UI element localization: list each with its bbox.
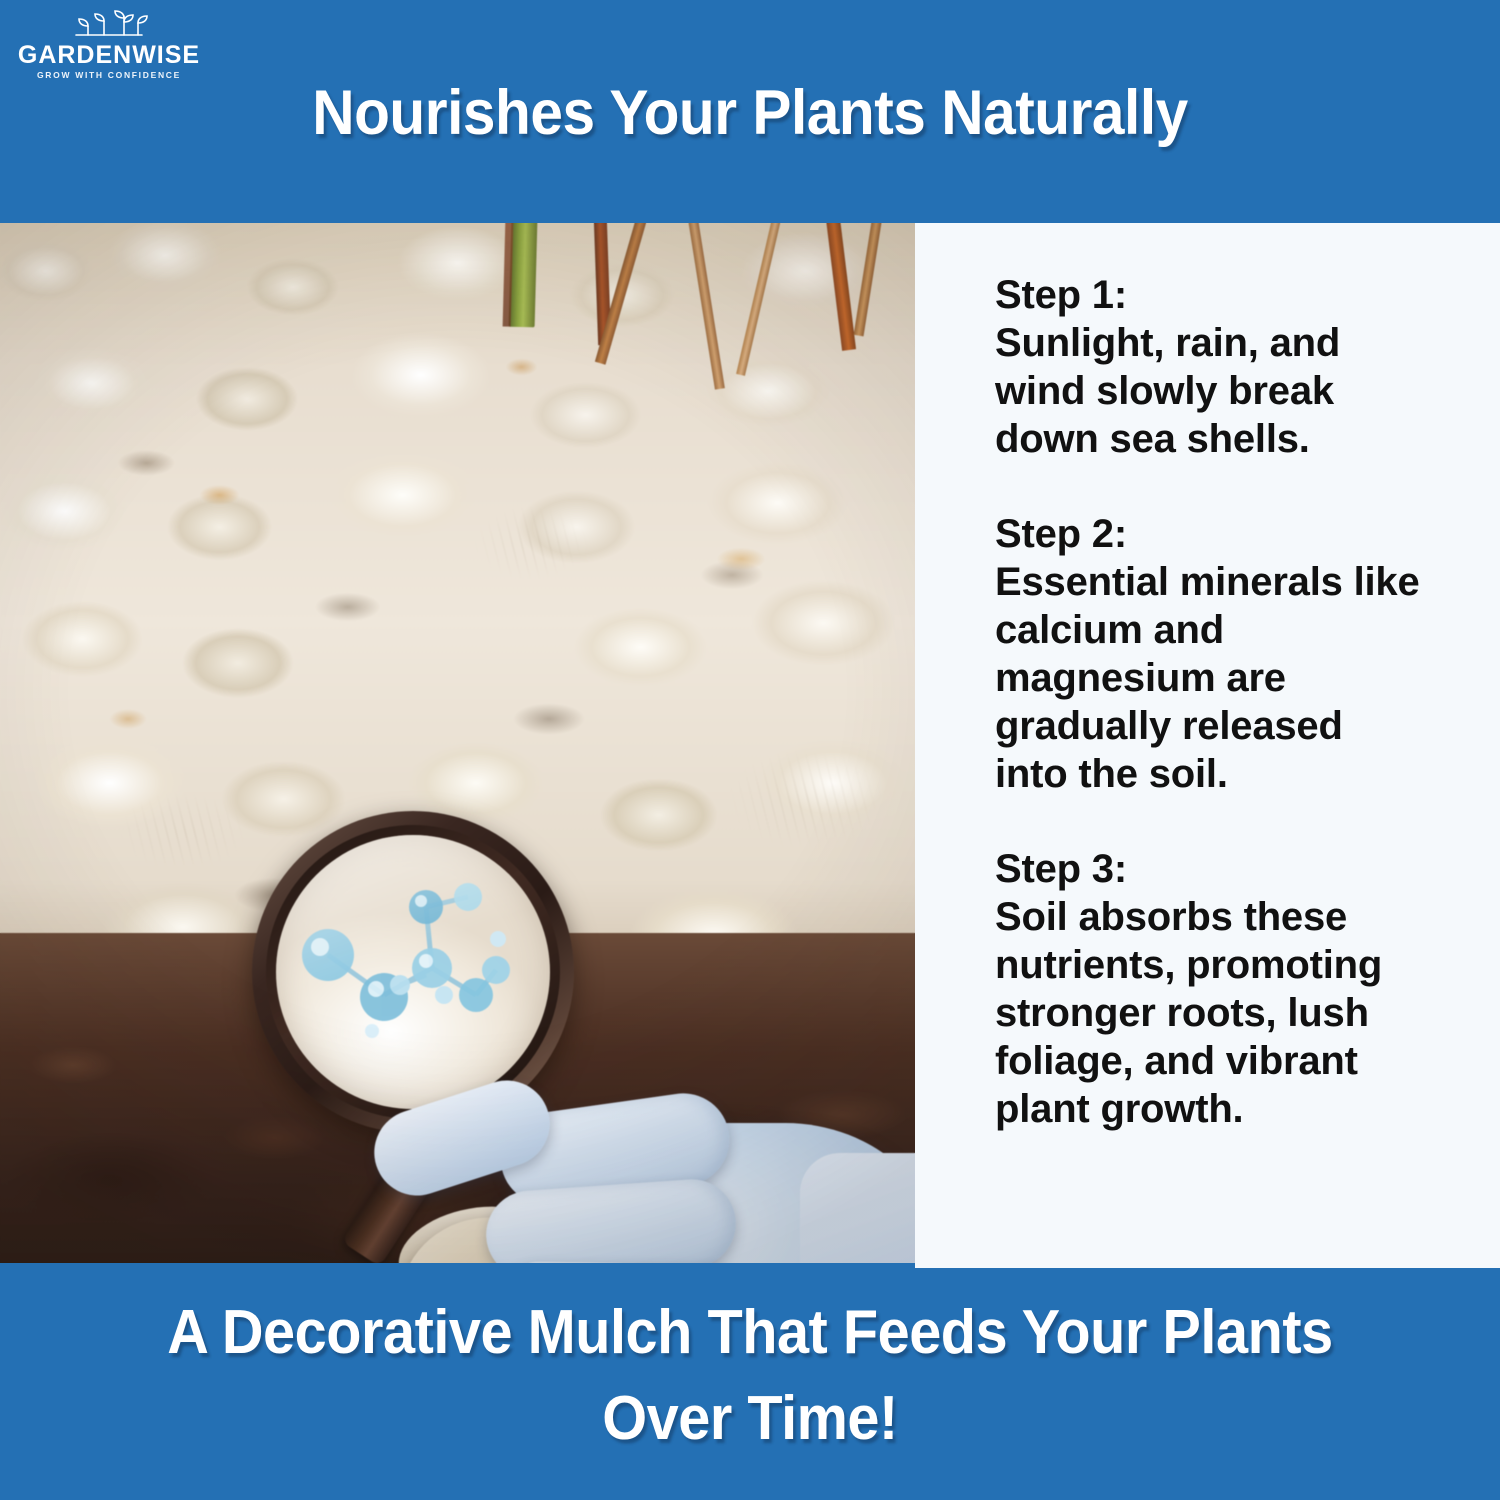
step-1-text: Sunlight, rain, and wind slowly break do… — [995, 319, 1475, 463]
sprouting-plants-icon — [14, 8, 204, 42]
product-photo — [0, 223, 915, 1263]
step-1-label: Step 1: — [995, 271, 1475, 319]
steps-list: Step 1: Sunlight, rain, and wind slowly … — [995, 271, 1475, 1133]
step-3-text: Soil absorbs these nutrients, promoting … — [995, 893, 1475, 1133]
magnifier-lens — [276, 835, 550, 1109]
step-item-2: Step 2: Essential minerals like calcium … — [995, 510, 1475, 798]
top-banner: GARDENWISE GROW WITH CONFIDENCE Nourishe… — [0, 0, 1500, 223]
content-row: Step 1: Sunlight, rain, and wind slowly … — [0, 223, 1500, 1268]
glove-wrist — [800, 1153, 915, 1263]
step-3-label: Step 3: — [995, 845, 1475, 893]
footer-tagline: A Decorative Mulch That Feeds Your Plant… — [53, 1290, 1448, 1462]
step-item-1: Step 1: Sunlight, rain, and wind slowly … — [995, 271, 1475, 463]
green-plant-stem — [509, 223, 538, 327]
infographic-page: GARDENWISE GROW WITH CONFIDENCE Nourishe… — [0, 0, 1500, 1500]
brand-name: GARDENWISE — [14, 42, 204, 68]
lens-glare — [276, 835, 550, 1109]
headline: Nourishes Your Plants Naturally — [53, 76, 1448, 150]
step-2-text: Essential minerals like calcium and magn… — [995, 558, 1475, 798]
bottom-banner: A Decorative Mulch That Feeds Your Plant… — [0, 1268, 1500, 1500]
steps-panel: Step 1: Sunlight, rain, and wind slowly … — [915, 223, 1500, 1268]
brand-logo: GARDENWISE GROW WITH CONFIDENCE — [14, 8, 204, 86]
step-item-3: Step 3: Soil absorbs these nutrients, pr… — [995, 845, 1475, 1133]
step-2-label: Step 2: — [995, 510, 1475, 558]
